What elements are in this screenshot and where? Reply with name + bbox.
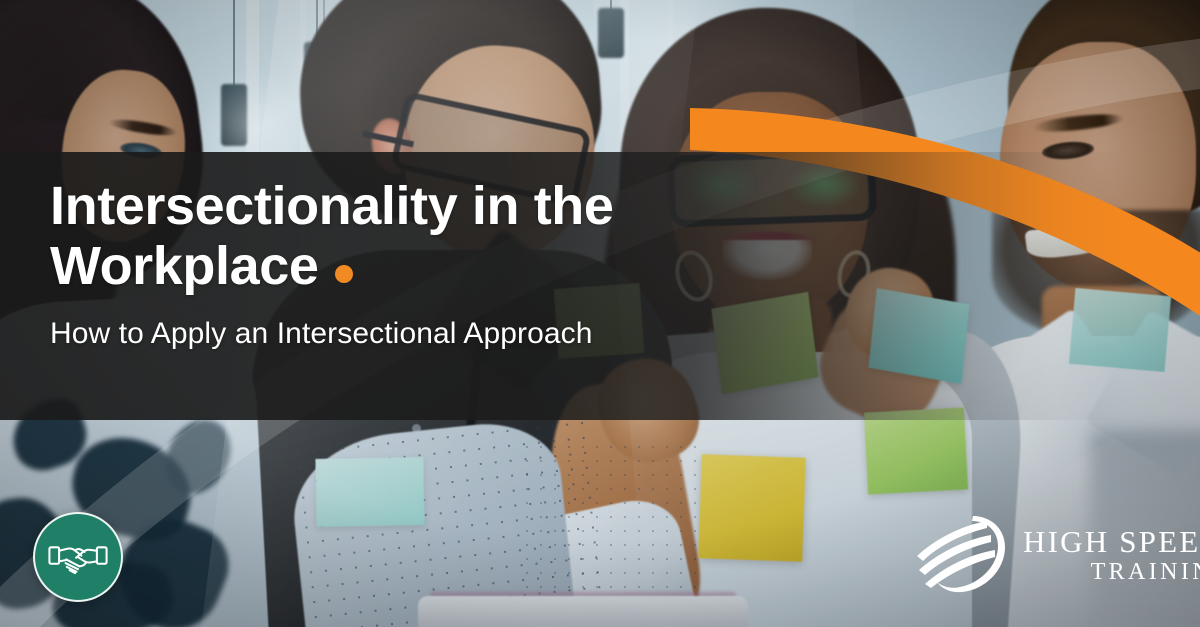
accent-dot	[335, 265, 353, 283]
page-subtitle: How to Apply an Intersectional Approach	[50, 317, 810, 351]
logo-wordmark: HIGH SPEED™ TRAINING	[1023, 524, 1200, 584]
headline-line-1: Intersectionality in the	[50, 176, 614, 236]
blog-hero-banner: Intersectionality in the Workplace How t…	[0, 0, 1200, 627]
banner-copy: Intersectionality in the Workplace How t…	[50, 176, 810, 351]
logo-line-2: TRAINING	[1023, 560, 1200, 584]
high-speed-training-logo: HIGH SPEED™ TRAINING	[915, 512, 1200, 596]
high-speed-swoosh-mark	[915, 512, 1011, 596]
page-title: Intersectionality in the Workplace	[50, 176, 810, 297]
headline-line-2: Workplace	[50, 236, 319, 296]
handshake-icon	[47, 526, 109, 588]
handshake-badge	[33, 512, 123, 602]
logo-line-1: HIGH SPEED	[1023, 524, 1200, 559]
